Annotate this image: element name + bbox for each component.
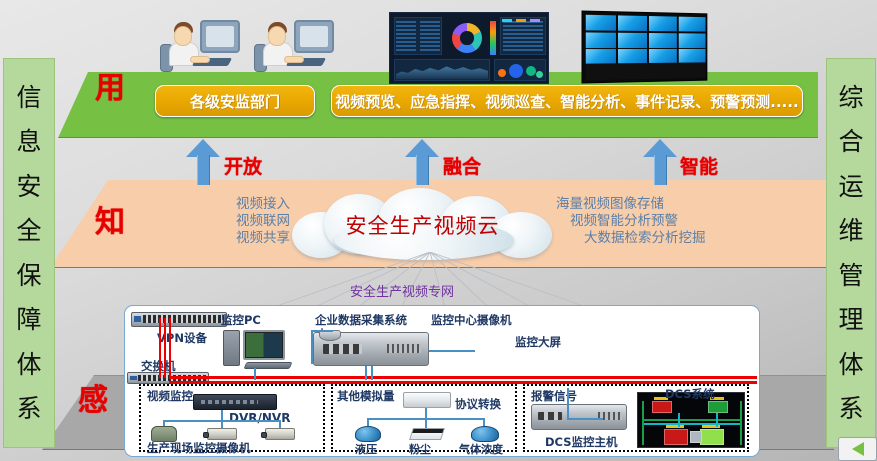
left-side-panel: 信 息 安 全 保 障 体 系 — [3, 58, 55, 448]
data-collect-link-v — [371, 366, 373, 380]
group-analog-signals: 其他模拟量 协议转换 液压 粉尘 气体浓度 — [331, 384, 517, 452]
arrow-label-smart: 智能 — [680, 152, 718, 179]
big-screen-label: 监控大屏 — [515, 334, 561, 350]
center-camera-label-visible: 监控中心摄像机 — [431, 312, 512, 328]
group2-sensor-2: 气体浓度 — [459, 441, 503, 457]
dome-camera-link-v — [311, 330, 313, 364]
dvr-link-v — [221, 410, 223, 420]
cloud-title: 安全生产视频云 — [290, 210, 555, 240]
group1-title: 视频监控 — [147, 388, 193, 404]
dept-box[interactable]: 各级安监部门 — [155, 85, 315, 117]
arrow-label-merge: 融合 — [443, 152, 481, 179]
right-side-char-3: 维 — [838, 218, 863, 243]
dcs-link-h — [567, 418, 603, 420]
cloud-right-line-1: 视频智能分析预警 — [556, 213, 756, 230]
cloud-right-line-0: 海量视频图像存储 — [556, 196, 756, 213]
monitor-pc-label: 监控PC — [221, 312, 261, 328]
monitor-pc-screen — [243, 330, 285, 360]
right-side-char-1: 合 — [838, 129, 863, 154]
cloud-left-line-1: 视频联网 — [150, 213, 290, 230]
right-side-char-6: 体 — [838, 352, 863, 377]
analytics-dashboard-image — [389, 12, 549, 84]
box-camera-1-icon — [207, 428, 237, 440]
operator-arm-1 — [190, 56, 210, 63]
trunk-red-v3 — [169, 318, 171, 378]
layer-letter-know: 知 — [95, 197, 125, 241]
right-side-char-4: 管 — [838, 263, 863, 288]
protocol-converter-device — [403, 392, 451, 408]
group1-caption: 生产现场监控摄像机 — [147, 440, 251, 456]
left-side-char-0: 信 — [16, 85, 41, 110]
left-side-char-7: 系 — [16, 396, 41, 421]
video-wall-screens — [586, 15, 706, 65]
trunk-red-v1 — [159, 318, 161, 378]
monitor-pc-link — [254, 368, 256, 380]
group-dcs-system: 报警信号 DCS监控主机 — [523, 384, 749, 452]
hydraulic-sensor-icon — [355, 426, 381, 442]
video-cloud-shape: 安全生产视频云 — [290, 188, 555, 260]
gas-sensor-icon — [471, 426, 499, 442]
left-side-char-1: 息 — [16, 129, 41, 154]
group2-title: 其他模拟量 — [337, 388, 395, 404]
data-collect-label: 企业数据采集系统 — [315, 312, 407, 328]
dcs-link-v — [567, 388, 569, 418]
corner-chip-icon[interactable] — [838, 437, 877, 461]
dvr-branch-2 — [221, 420, 223, 428]
dcs-host-device — [531, 404, 627, 430]
right-side-char-0: 综 — [838, 85, 863, 110]
control-room-link — [365, 366, 367, 380]
box-camera-2-icon — [265, 428, 295, 440]
group2-sensor-1: 粉尘 — [409, 441, 431, 457]
group1-device-label: DVR/NVR — [229, 411, 290, 425]
left-side-char-3: 全 — [16, 218, 41, 243]
cloud-left-line-2: 视频共享 — [150, 230, 290, 247]
dvr-nvr-device — [193, 394, 277, 410]
group2-device-label: 协议转换 — [455, 396, 501, 412]
trunk-red-main-1 — [169, 376, 757, 379]
video-wall-image — [582, 11, 708, 84]
group2-sensor-0: 液压 — [355, 441, 377, 457]
dvr-branch-3 — [279, 420, 281, 428]
vpn-device-icon — [131, 312, 227, 327]
cloud-left-line-0: 视频接入 — [150, 196, 290, 213]
right-side-char-5: 理 — [838, 307, 863, 332]
arrow-smart-icon — [643, 139, 677, 185]
cloud-right-capabilities: 海量视频图像存储 视频智能分析预警 大数据检索分析挖掘 — [556, 196, 756, 247]
operator-head-1 — [174, 26, 192, 46]
functions-box[interactable]: 视频预览、应急指挥、视频巡查、智能分析、事件记录、预警预测..... — [331, 85, 803, 117]
green-triangle-icon — [852, 442, 864, 456]
conv-branch-2 — [425, 418, 427, 428]
right-side-char-2: 运 — [838, 174, 863, 199]
cloud-right-line-2: 大数据检索分析挖掘 — [556, 230, 756, 247]
video-wall-base — [586, 62, 706, 80]
right-side-panel: 综 合 运 维 管 理 体 系 — [826, 58, 876, 448]
group3-screen-label: DCS系统 — [665, 386, 714, 402]
infrastructure-panel: VPN设备 交换机 监控PC 企业数据采集系统 监控中心摄像机 监控中心摄像机 — [124, 305, 760, 457]
left-side-char-5: 障 — [16, 307, 41, 332]
data-collect-link-h — [429, 350, 475, 352]
group-video-surveillance: 视频监控 DVR/NVR 生产现场监控摄像机 — [139, 384, 325, 452]
operator-arm-2 — [284, 56, 304, 63]
arrow-open-icon — [186, 139, 220, 185]
group3-device-label: DCS监控主机 — [545, 434, 617, 450]
operator-monitor-2 — [294, 20, 334, 53]
cloud-left-capabilities: 视频接入 视频联网 视频共享 — [150, 196, 290, 247]
arrow-label-open: 开放 — [224, 152, 262, 179]
operator-monitor-1 — [200, 20, 240, 53]
group3-title: 报警信号 — [531, 388, 577, 404]
left-side-char-4: 保 — [16, 263, 41, 288]
conv-link-v — [425, 408, 427, 418]
operator-head-2 — [268, 26, 286, 46]
left-side-char-2: 安 — [16, 174, 41, 199]
layer-letter-sense: 感 — [78, 375, 108, 419]
trunk-red-v2 — [164, 318, 166, 378]
dome-camera-link-h — [311, 330, 333, 332]
monitor-pc-tower — [223, 330, 240, 366]
right-side-char-7: 系 — [838, 396, 863, 421]
private-network-label: 安全生产视频专网 — [350, 281, 454, 300]
left-side-char-6: 体 — [16, 352, 41, 377]
arrow-merge-icon — [405, 139, 439, 185]
dust-sensor-icon — [409, 428, 445, 440]
architecture-diagram: 信 息 安 全 保 障 体 系 综 合 运 维 管 理 体 系 — [0, 0, 877, 461]
layer-letter-use: 用 — [95, 63, 125, 107]
monitor-pc-keyboard — [244, 362, 293, 369]
